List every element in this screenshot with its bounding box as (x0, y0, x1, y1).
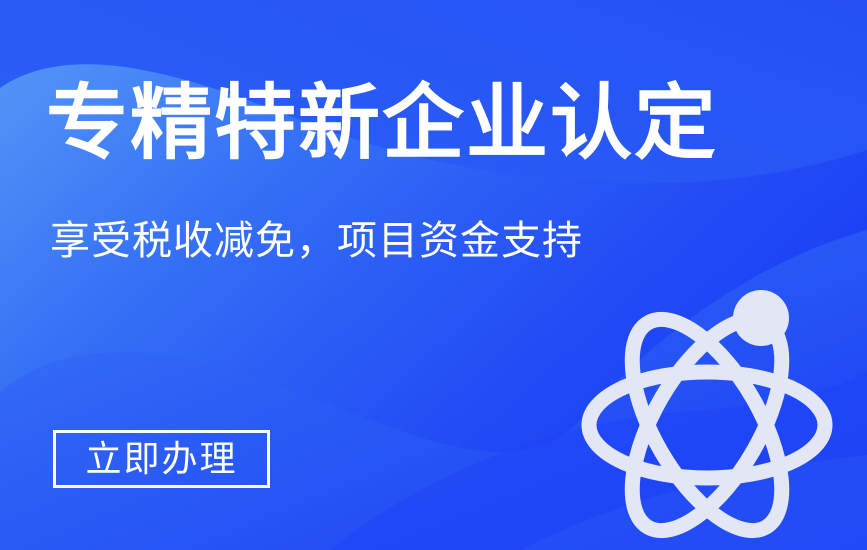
banner-content: 专精特新企业认定 享受税收减免，项目资金支持 立即办理 (0, 0, 867, 550)
page-title: 专精特新企业认定 (46, 78, 718, 170)
promo-banner: 专精特新企业认定 享受税收减免，项目资金支持 立即办理 (0, 0, 867, 550)
apply-now-button[interactable]: 立即办理 (53, 430, 270, 488)
atom-electron-icon (733, 290, 789, 346)
atom-icon (575, 282, 840, 540)
page-subtitle: 享受税收减免，项目资金支持 (50, 216, 583, 266)
